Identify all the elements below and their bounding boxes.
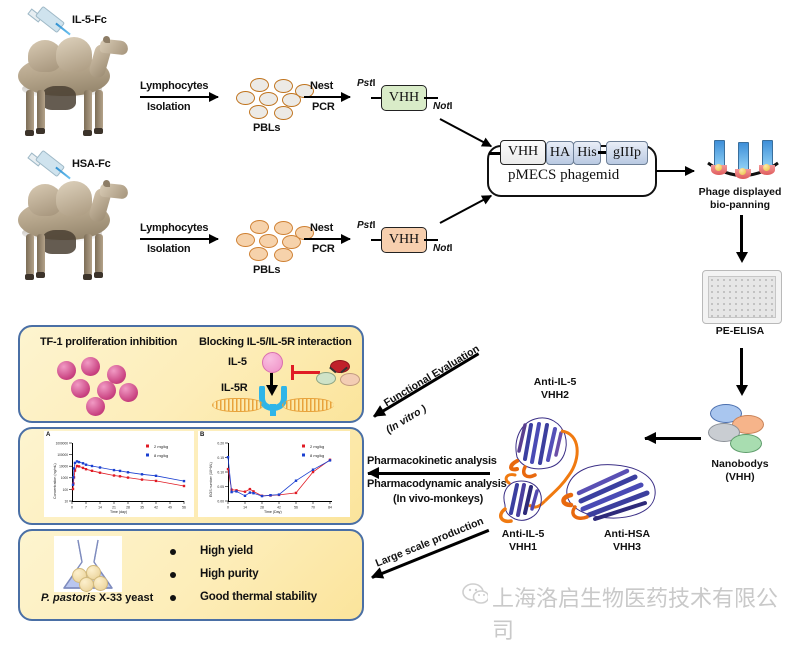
nanobody-cluster xyxy=(708,404,774,452)
elisa-label: PE-ELISA xyxy=(690,325,790,338)
cell-membrane-icon-right xyxy=(282,398,334,412)
svg-text:1000: 1000 xyxy=(61,476,68,480)
structure-label-vhh3: Anti-HSA VHH3 xyxy=(582,528,672,554)
svg-text:28: 28 xyxy=(126,506,130,510)
enzyme-numeral-pst-2: I xyxy=(373,220,376,231)
enzyme-numeral-not-2: I xyxy=(450,243,453,254)
il5r-label: IL-5R xyxy=(221,382,248,394)
svg-text:42: 42 xyxy=(154,506,158,510)
cell-membrane-icon xyxy=(212,398,264,412)
inhibition-stop-icon xyxy=(291,365,294,380)
phagemid-chip-vhh: VHH xyxy=(500,140,546,165)
chart-b-legend-1: 2 mg/kg xyxy=(310,444,324,449)
svg-text:10: 10 xyxy=(64,499,68,503)
structure-label-vhh1: Anti-IL-5 VHH1 xyxy=(478,528,568,554)
vhh-gene-box-1: VHH xyxy=(381,85,427,111)
svg-text:21: 21 xyxy=(112,506,116,510)
panel-invitro-right-title: Blocking IL-5/IL-5R interaction xyxy=(199,336,352,348)
vhh-gene-construct-1: PstI VHH NotI xyxy=(357,78,467,118)
phagemid-chip-his: His xyxy=(573,141,601,165)
phagemid-chip-ha: HA xyxy=(546,141,574,165)
step-label-lymphocytes-1: Lymphocytes xyxy=(140,80,208,92)
svg-text:28: 28 xyxy=(260,506,264,510)
panning-label-line1: Phage displayed xyxy=(690,186,790,199)
yeast-caption-species: P. pastoris xyxy=(41,592,96,604)
phagemid-chip-his-label: His xyxy=(577,145,596,160)
nanobody-label-line2: (VHH) xyxy=(690,471,790,484)
blocking-nanobody-icon xyxy=(316,360,358,386)
elisa-plate-wells xyxy=(708,276,776,318)
structure-domain-vhh2 xyxy=(511,418,566,477)
enzyme-numeral-pst: I xyxy=(373,78,376,89)
svg-text:7: 7 xyxy=(85,506,87,510)
arrow-label-large-scale-production: Large scale production xyxy=(374,515,486,569)
il5-ligand-icon xyxy=(262,352,283,373)
svg-text:0.10: 0.10 xyxy=(217,471,224,475)
svg-text:0.20: 0.20 xyxy=(217,442,224,446)
step-label-lymphocytes-2: Lymphocytes xyxy=(140,222,208,234)
vhh-gene-label-1: VHH xyxy=(389,90,419,105)
yeast-caption: P. pastoris X-33 yeast xyxy=(41,592,153,604)
enzyme-name-pst: Pst xyxy=(357,78,373,89)
svg-text:0.05: 0.05 xyxy=(217,485,224,489)
bullet-icon-1 xyxy=(170,549,176,555)
phagemid-chip-giiip: gIIIp xyxy=(606,141,648,165)
pbl-label-2: PBLs xyxy=(253,264,280,276)
panel-invitro-left-title: TF-1 proliferation inhibition xyxy=(40,336,177,348)
structure-label-vhh3-line2: VHH3 xyxy=(582,541,672,554)
chart-panel-a: A Concentration (ng/mL) Time (day) 10000… xyxy=(44,431,194,517)
restriction-site-pst1-2: PstI xyxy=(357,220,375,231)
svg-text:42: 42 xyxy=(277,506,281,510)
arrow-clone-into-phagemid-1 xyxy=(440,118,492,147)
arrow-panning-to-elisa xyxy=(740,215,743,253)
watermark-text: 上海洛启生物医药技术有限公司 xyxy=(492,581,791,645)
chart-a-legend-1: 2 mg/kg xyxy=(154,444,168,449)
chart-b-legend-2: 8 mg/kg xyxy=(310,453,324,458)
enzyme-name-pst-2: Pst xyxy=(357,220,373,231)
phagemid-chip-ha-label: HA xyxy=(550,145,570,160)
chart-a-legend-2: 8 mg/kg xyxy=(154,453,168,458)
yeast-caption-strain: X-33 yeast xyxy=(96,592,153,604)
arrow-to-panning xyxy=(656,170,694,172)
phagemid-name: pMECS phagemid xyxy=(508,167,619,184)
step-label-isolation-2: Isolation xyxy=(147,243,190,255)
phagemid-chip-vhh-label: VHH xyxy=(508,144,538,159)
arrow-il5-binding xyxy=(270,373,273,386)
svg-text:100000: 100000 xyxy=(57,453,68,457)
yeast-flask-illustration xyxy=(54,536,122,592)
step-label-pcr-1: PCR xyxy=(312,101,335,113)
svg-text:35: 35 xyxy=(140,506,144,510)
structure-domain-vhh3 xyxy=(564,465,656,519)
svg-text:0.15: 0.15 xyxy=(217,456,224,460)
camel-illustration-il5 xyxy=(4,28,144,140)
arrow-lymphocyte-isolation-2 xyxy=(140,238,218,240)
step-label-pcr-2: PCR xyxy=(312,243,335,255)
step-label-nest-2: Nest xyxy=(310,222,333,234)
svg-text:0: 0 xyxy=(227,506,229,510)
structure-label-vhh2-line1: Anti-IL-5 xyxy=(500,376,610,389)
pbl-label-1: PBLs xyxy=(253,122,280,134)
svg-text:100: 100 xyxy=(63,488,69,492)
svg-text:0.00: 0.00 xyxy=(217,500,224,504)
arrow-label-pd: Pharmacodynamic analysis xyxy=(367,478,507,490)
vhh-gene-label-2: VHH xyxy=(389,232,419,247)
nanobody-3d-structure xyxy=(495,405,685,545)
svg-text:49: 49 xyxy=(168,506,172,510)
enzyme-name-not: Not xyxy=(433,101,450,112)
yeast-bullet-2: High purity xyxy=(200,568,259,580)
pbl-cluster-2 xyxy=(236,220,314,262)
enzyme-name-not-2: Not xyxy=(433,243,450,254)
structure-label-vhh3-line1: Anti-HSA xyxy=(582,528,672,541)
nanobody-label-line1: Nanobodys xyxy=(690,458,790,471)
vhh-gene-box-2: VHH xyxy=(381,227,427,253)
enzyme-numeral-not: I xyxy=(450,101,453,112)
arrow-label-functional-evaluation-line1: Functional Evaluation xyxy=(382,343,482,409)
arrow-label-pk: Pharmacokinetic analysis xyxy=(367,455,497,467)
svg-text:0: 0 xyxy=(71,506,73,510)
il5-label: IL-5 xyxy=(228,356,247,368)
vhh-gene-construct-2: PstI VHH NotI xyxy=(357,220,467,260)
arrow-label-invivo: (In vivo-monkeys) xyxy=(393,493,483,505)
nanobody-oval-4 xyxy=(730,434,762,453)
panning-label-line2: bio-panning xyxy=(690,199,790,212)
bullet-icon-3 xyxy=(170,595,176,601)
arrow-pharmacokinetic xyxy=(368,472,490,475)
wechat-icon xyxy=(462,583,488,605)
pbl-cluster-1 xyxy=(236,78,314,120)
svg-text:56: 56 xyxy=(294,506,298,510)
svg-text:84: 84 xyxy=(328,506,332,510)
svg-text:1000000: 1000000 xyxy=(56,442,69,446)
arrow-nest-pcr-2 xyxy=(304,238,350,240)
svg-text:10000: 10000 xyxy=(59,465,68,469)
structure-label-vhh1-line1: Anti-IL-5 xyxy=(478,528,568,541)
antigen-label-il5fc: IL-5-Fc xyxy=(72,14,107,26)
svg-text:56: 56 xyxy=(182,506,186,510)
restriction-site-pst1-1: PstI xyxy=(357,78,375,89)
chart-panel-b: B EOS number (10^9/L) Time (Day) 0.200.1… xyxy=(198,431,350,517)
yeast-bullet-3: Good thermal stability xyxy=(200,591,317,603)
elisa-plate-illustration xyxy=(702,270,782,324)
step-label-isolation-1: Isolation xyxy=(147,101,190,113)
bullet-icon-2 xyxy=(170,572,176,578)
tf1-cell-cluster xyxy=(55,357,165,413)
restriction-site-not1-1: NotI xyxy=(433,101,452,112)
structure-label-vhh2: Anti-IL-5 VHH2 xyxy=(500,376,610,402)
antigen-label-hsafc: HSA-Fc xyxy=(72,158,111,170)
structure-linker-2-3 xyxy=(545,431,577,501)
chart-b-plot: 0.200.15 0.100.050.00 01428 425670 84 xyxy=(198,431,350,517)
restriction-site-not1-2: NotI xyxy=(433,243,452,254)
phage-panning-illustration xyxy=(705,138,781,183)
arrow-nest-pcr-1 xyxy=(304,96,350,98)
step-label-nest-1: Nest xyxy=(310,80,333,92)
chart-a-plot: 1000000100000 100001000 10010 0714 21283… xyxy=(44,431,194,517)
svg-text:14: 14 xyxy=(98,506,102,510)
structure-label-vhh2-line2: VHH2 xyxy=(500,389,610,402)
arrow-elisa-to-nanobodies xyxy=(740,348,743,386)
structure-label-vhh1-line2: VHH1 xyxy=(478,541,568,554)
camel-illustration-hsa xyxy=(4,172,144,284)
yeast-bullet-1: High yield xyxy=(200,545,253,557)
svg-text:70: 70 xyxy=(311,506,315,510)
svg-text:14: 14 xyxy=(243,506,247,510)
arrow-lymphocyte-isolation-1 xyxy=(140,96,218,98)
phagemid-chip-giiip-label: gIIIp xyxy=(613,145,641,160)
